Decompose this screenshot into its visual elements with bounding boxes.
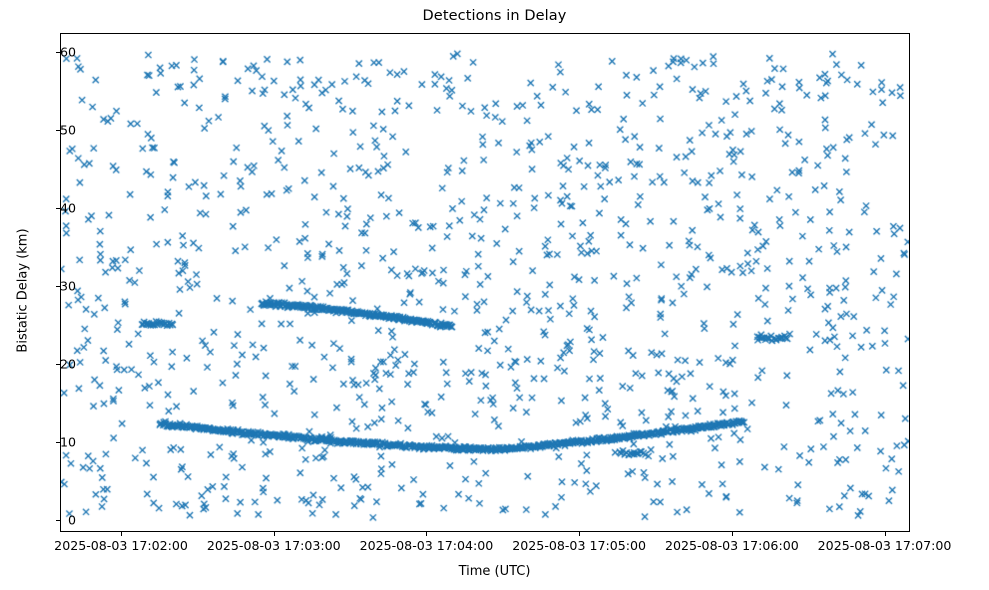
x-tick-label: 2025-08-03 17:05:00 [512, 538, 646, 553]
matplotlib-figure: Detections in Delay 01020304050602025-08… [0, 0, 989, 590]
y-axis-label: Bistatic Delay (km) [16, 171, 31, 411]
plot-axes [60, 33, 910, 532]
x-tick-mark [274, 532, 275, 536]
x-tick-mark [885, 532, 886, 536]
x-tick-mark [579, 532, 580, 536]
x-tick-mark [121, 532, 122, 536]
x-tick-label: 2025-08-03 17:06:00 [665, 538, 799, 553]
x-tick-label: 2025-08-03 17:03:00 [207, 538, 341, 553]
chart-title: Detections in Delay [0, 8, 989, 24]
x-axis-label: Time (UTC) [0, 564, 989, 579]
x-tick-mark [732, 532, 733, 536]
x-tick-label: 2025-08-03 17:04:00 [360, 538, 494, 553]
x-tick-label: 2025-08-03 17:02:00 [54, 538, 188, 553]
scatter-plot-canvas [61, 34, 909, 531]
x-tick-label: 2025-08-03 17:07:00 [818, 538, 952, 553]
x-tick-mark [426, 532, 427, 536]
